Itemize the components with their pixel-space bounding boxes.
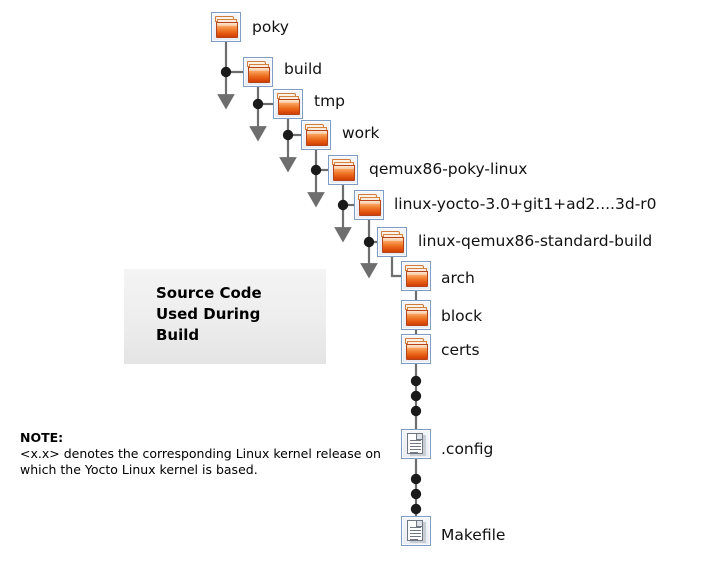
- node-label-block: block: [441, 307, 482, 325]
- folder-icon: [211, 12, 241, 42]
- node-label-linux-yocto: linux-yocto-3.0+git1+ad2....3d-r0: [394, 195, 657, 213]
- node-label-arch: arch: [441, 269, 475, 287]
- node-label-dotconfig: .config: [441, 440, 493, 458]
- document-icon: [401, 516, 431, 546]
- note-title: NOTE:: [20, 430, 390, 446]
- folder-icon: [273, 89, 303, 119]
- diagram-canvas: Source Code Used During Build poky build…: [0, 0, 705, 581]
- note-block: NOTE: <x.x> denotes the corresponding Li…: [20, 430, 390, 478]
- connector-wires: [0, 0, 705, 581]
- folder-icon: [401, 261, 431, 291]
- folder-icon: [243, 57, 273, 87]
- node-label-work: work: [342, 124, 380, 142]
- note-body: <x.x> denotes the corresponding Linux ke…: [20, 446, 390, 478]
- legend-line-1: Source Code: [156, 283, 336, 304]
- node-label-poky: poky: [252, 18, 289, 36]
- node-label-makefile: Makefile: [441, 526, 505, 544]
- node-label-qemux86-poky-linux: qemux86-poky-linux: [369, 160, 527, 178]
- folder-icon: [328, 155, 358, 185]
- folder-icon: [301, 120, 331, 150]
- node-label-certs: certs: [441, 341, 480, 359]
- document-icon: [401, 429, 431, 459]
- legend-label: Source Code Used During Build: [156, 283, 336, 346]
- legend-line-2: Used During: [156, 304, 336, 325]
- folder-icon: [377, 227, 407, 257]
- folder-icon: [354, 190, 384, 220]
- legend-line-3: Build: [156, 325, 336, 346]
- folder-icon: [401, 334, 431, 364]
- node-label-build: build: [284, 60, 322, 78]
- node-label-tmp: tmp: [314, 92, 345, 110]
- folder-icon: [401, 300, 431, 330]
- node-label-linux-qemux86-standard-build: linux-qemux86-standard-build: [418, 232, 652, 250]
